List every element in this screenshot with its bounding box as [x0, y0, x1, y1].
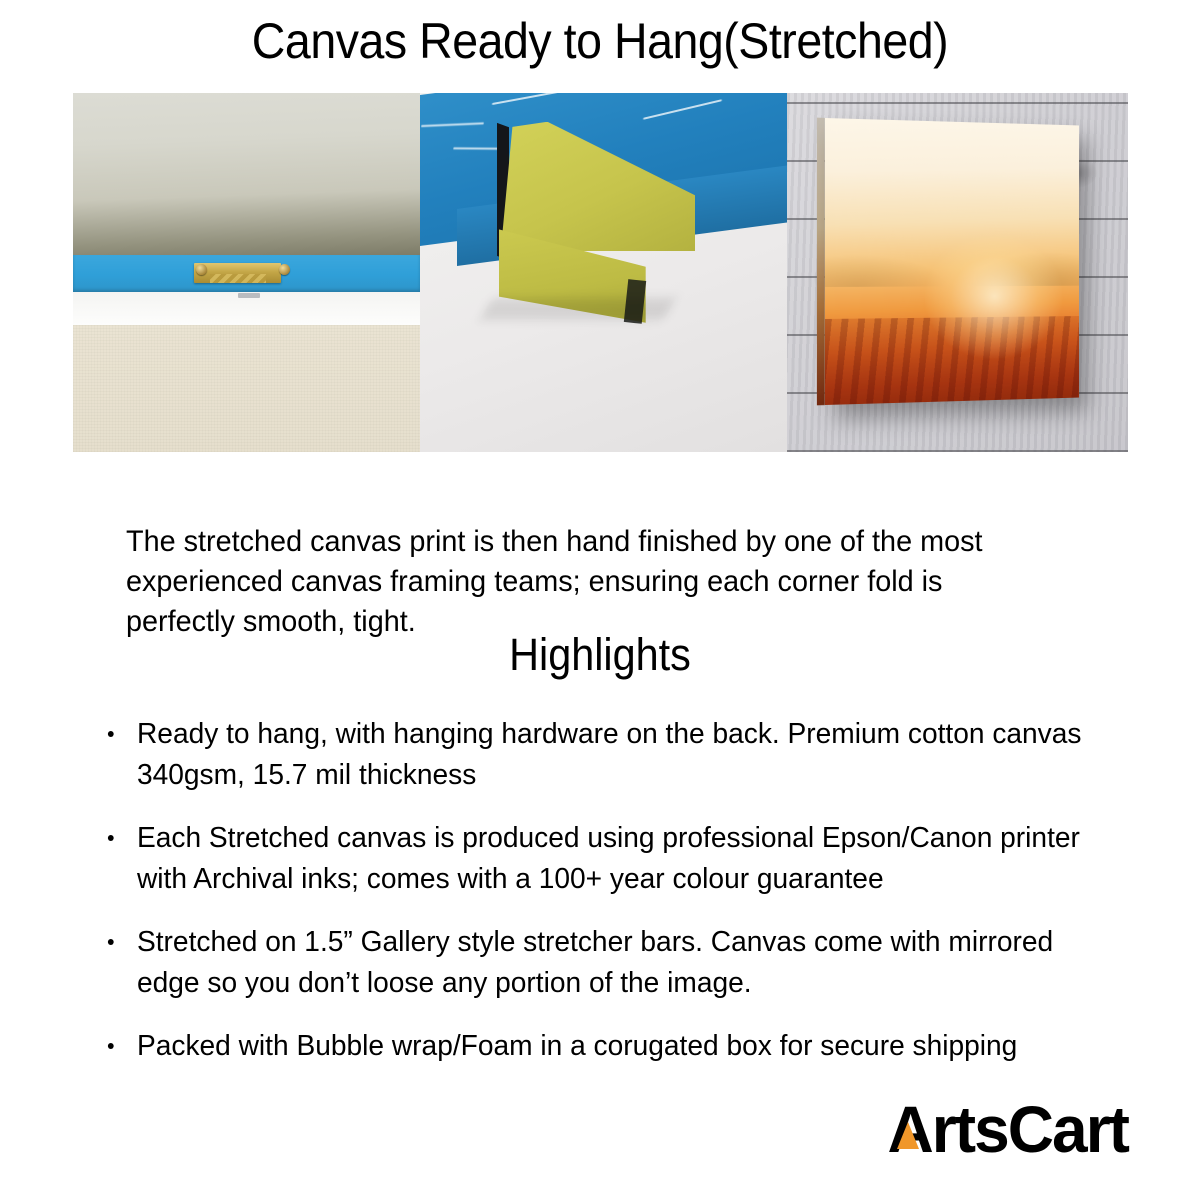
drop-shadow — [480, 298, 675, 320]
brand-logo-text: ArtsCart — [887, 1096, 1128, 1162]
bullet-dot-icon — [108, 939, 114, 945]
list-item-text: Each Stretched canvas is produced using … — [137, 822, 1080, 895]
bullet-dot-icon — [108, 835, 114, 841]
cloud-wisp — [493, 93, 588, 105]
list-item: Packed with Bubble wrap/Foam in a coruga… — [104, 1026, 1084, 1067]
hanger-screw-left-icon — [196, 264, 207, 275]
canvas-gallery-edge — [816, 118, 824, 406]
canvas-back-hanger-image — [73, 93, 420, 452]
sunset-hills — [825, 242, 1079, 288]
product-image-strip — [73, 93, 1128, 452]
list-item-text: Ready to hang, with hanging hardware on … — [137, 718, 1081, 791]
canvas-on-wall-image — [787, 93, 1128, 452]
highlights-list: Ready to hang, with hanging hardware on … — [104, 714, 1114, 1089]
list-item: Ready to hang, with hanging hardware on … — [104, 714, 1084, 796]
list-item-text: Stretched on 1.5” Gallery style stretche… — [137, 926, 1053, 999]
list-item-text: Packed with Bubble wrap/Foam in a coruga… — [137, 1030, 1017, 1062]
bullet-dot-icon — [108, 731, 114, 737]
cloud-wisp — [643, 99, 722, 120]
sunset-canvas-print — [825, 118, 1079, 405]
sawtooth-hanger-icon — [194, 263, 281, 283]
cloud-wisp — [453, 147, 500, 149]
brand-logo: ArtsCart — [880, 1096, 1128, 1162]
highlights-heading: Highlights — [48, 628, 1152, 682]
page-title: Canvas Ready to Hang(Stretched) — [42, 12, 1158, 70]
list-item: Each Stretched canvas is produced using … — [104, 818, 1084, 900]
cloud-wisp — [421, 122, 484, 127]
intro-paragraph: The stretched canvas print is then hand … — [126, 522, 1040, 642]
raw-canvas-texture — [73, 325, 420, 452]
sunset-foreground-trees — [825, 316, 1079, 405]
list-item: Stretched on 1.5” Gallery style stretche… — [104, 922, 1084, 1004]
backdrop-wall — [73, 93, 420, 255]
canvas-corner-fold-image — [420, 93, 787, 452]
hanger-clip-icon — [238, 293, 260, 298]
bullet-dot-icon — [108, 1043, 114, 1049]
